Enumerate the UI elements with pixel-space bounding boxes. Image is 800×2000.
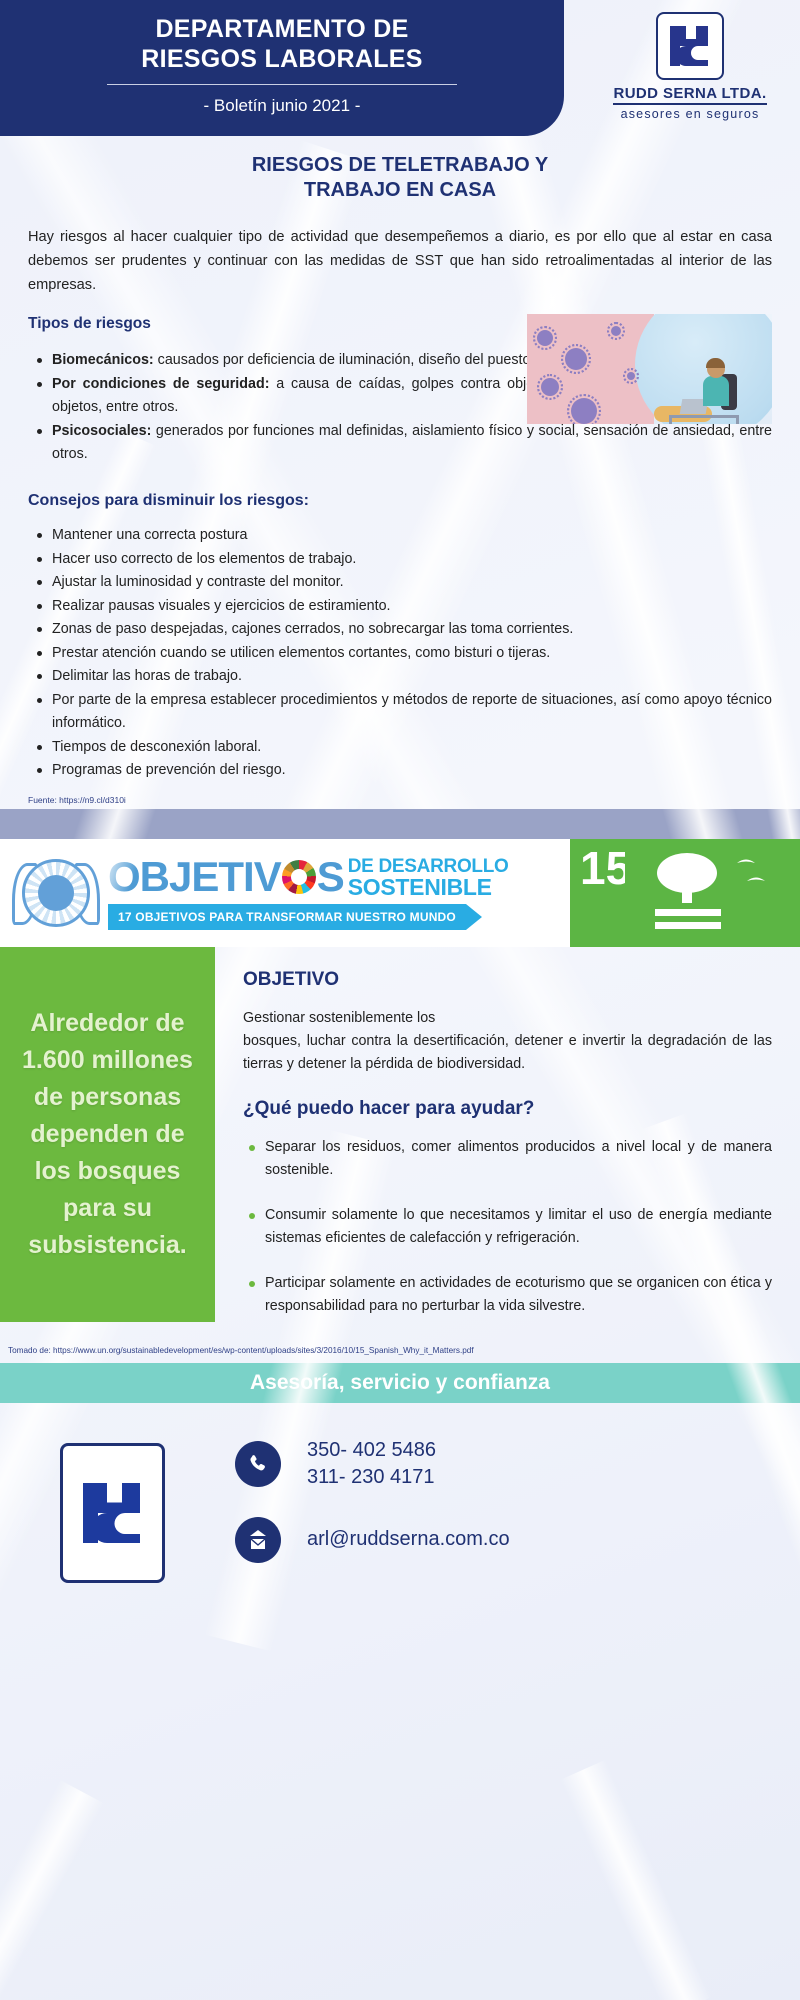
tips-list: Mantener una correcta posturaHacer uso c… [28, 524, 772, 783]
ods-sostenible: SOSTENIBLE [348, 877, 509, 897]
ods-title-block: OBJETIV S DE DESARROLLO SOSTENIBLE 17 OB… [108, 855, 509, 930]
newsletter-page: DEPARTAMENTO DE RIESGOS LABORALES - Bole… [0, 0, 800, 2000]
risk-item-label: Por condiciones de seguridad: [52, 376, 269, 392]
risk-item: Psicosociales: generados por funciones m… [28, 420, 772, 466]
action-item: Consumir solamente lo que necesitamos y … [243, 1204, 772, 1250]
intro-paragraph: Hay riesgos al hacer cualquier tipo de a… [28, 225, 772, 297]
tip-item: Mantener una correcta postura [28, 524, 772, 548]
action-item: Participar solamente en actividades de e… [243, 1272, 772, 1318]
section-title-line1: RIESGOS DE TELETRABAJO Y [28, 153, 772, 178]
ayuda-heading: ¿Qué puedo hacer para ayudar? [243, 1098, 772, 1120]
rs-logo-icon [656, 12, 724, 80]
logo-company-name: RUDD SERNA LTDA. [613, 85, 766, 105]
page-footer: 350- 402 5486 311- 230 4171 arl@ruddsern… [0, 1403, 800, 1623]
tip-item: Realizar pausas visuales y ejercicios de… [28, 595, 772, 619]
section-title-line2: TRABAJO EN CASA [28, 178, 772, 203]
page-header: DEPARTAMENTO DE RIESGOS LABORALES - Bole… [0, 0, 800, 136]
phone-icon [235, 1441, 281, 1487]
virus-icon [537, 330, 553, 346]
contact-block: 350- 402 5486 311- 230 4171 arl@ruddsern… [235, 1437, 510, 1589]
objetivo-paragraph: Gestionar sosteniblemente losbosques, lu… [243, 1007, 772, 1076]
objetivo-heading: OBJETIVO [243, 969, 772, 991]
sdg-source: Tomado de: https://www.un.org/sustainabl… [0, 1340, 800, 1363]
objetivo-paragraph-line: bosques, luchar contra la desertificació… [243, 1030, 772, 1076]
header-blue-panel: DEPARTAMENTO DE RIESGOS LABORALES - Bole… [0, 0, 564, 136]
header-title-line1: DEPARTAMENTO DE [0, 14, 564, 44]
sdg-section: Alrededor de1.600 millonesde personasdep… [0, 947, 800, 1363]
telework-illustration [527, 314, 772, 424]
virus-icon [611, 326, 621, 336]
tip-item: Delimitar las horas de trabajo. [28, 665, 772, 689]
phone-line1: 350- 402 5486 [307, 1437, 436, 1464]
goal-number: 15 [580, 847, 631, 889]
header-title-line2: RIESGOS LABORALES [0, 44, 564, 74]
sdg-text-block: OBJETIVO Gestionar sosteniblemente losbo… [0, 947, 800, 1318]
sdg-color-wheel-icon [282, 860, 316, 894]
actions-list: Separar los residuos, comer alimentos pr… [243, 1136, 772, 1318]
section1-source: Fuente: https://n9.cl/d310i [28, 795, 772, 809]
tip-item: Por parte de la empresa establecer proce… [28, 689, 772, 736]
virus-icon [571, 398, 597, 424]
objetivo-paragraph-line: Gestionar sosteniblemente los [243, 1007, 772, 1030]
phone-line2: 311- 230 4171 [307, 1464, 436, 1491]
risks-section: RIESGOS DE TELETRABAJO Y TRABAJO EN CASA… [0, 136, 800, 809]
tip-item: Prestar atención cuando se utilicen elem… [28, 642, 772, 666]
ods-arrow-banner: 17 OBJETIVOS PARA TRANSFORMAR NUESTRO MU… [108, 904, 482, 930]
phone-numbers: 350- 402 5486 311- 230 4171 [307, 1437, 436, 1491]
company-logo: RUDD SERNA LTDA. asesores en seguros [600, 12, 780, 121]
risk-item-label: Biomecánicos: [52, 352, 154, 368]
email-address: arl@ruddserna.com.co [307, 1526, 510, 1553]
header-title: DEPARTAMENTO DE RIESGOS LABORALES [0, 0, 564, 74]
virus-icon [627, 372, 635, 380]
ods-banner-left: OBJETIV S DE DESARROLLO SOSTENIBLE 17 OB… [0, 839, 570, 947]
banner-gap [0, 809, 800, 839]
tip-item: Zonas de paso despejadas, cajones cerrad… [28, 618, 772, 642]
header-divider [107, 84, 457, 85]
header-subtitle: - Boletín junio 2021 - [0, 96, 564, 116]
virus-icon [565, 348, 587, 370]
email-icon [235, 1517, 281, 1563]
tips-heading: Consejos para disminuir los riesgos: [28, 492, 772, 510]
footer-logo-icon [60, 1443, 165, 1583]
tip-item: Programas de prevención del riesgo. [28, 759, 772, 783]
tip-item: Hacer uso correcto de los elementos de t… [28, 548, 772, 572]
section-title: RIESGOS DE TELETRABAJO Y TRABAJO EN CASA [28, 136, 772, 203]
slogan-text: Asesoría, servicio y confianza [250, 1371, 550, 1395]
action-item: Separar los residuos, comer alimentos pr… [243, 1136, 772, 1182]
ods-objetivos-tail: S [317, 855, 344, 899]
un-emblem-icon [12, 849, 100, 937]
desk-figure [669, 415, 739, 418]
tip-item: Tiempos de desconexión laboral. [28, 736, 772, 760]
phone-row[interactable]: 350- 402 5486 311- 230 4171 [235, 1437, 510, 1491]
person-figure [703, 376, 729, 406]
goal-15-pictogram [625, 839, 800, 947]
slogan-bar: Asesoría, servicio y confianza [0, 1363, 800, 1403]
tip-item: Ajustar la luminosidad y contraste del m… [28, 571, 772, 595]
logo-tagline: asesores en seguros [600, 107, 780, 121]
email-row[interactable]: arl@ruddserna.com.co [235, 1517, 510, 1563]
virus-icon [541, 378, 559, 396]
risk-item-label: Psicosociales: [52, 423, 151, 439]
ods-objetivos-word: OBJETIV [108, 855, 281, 899]
